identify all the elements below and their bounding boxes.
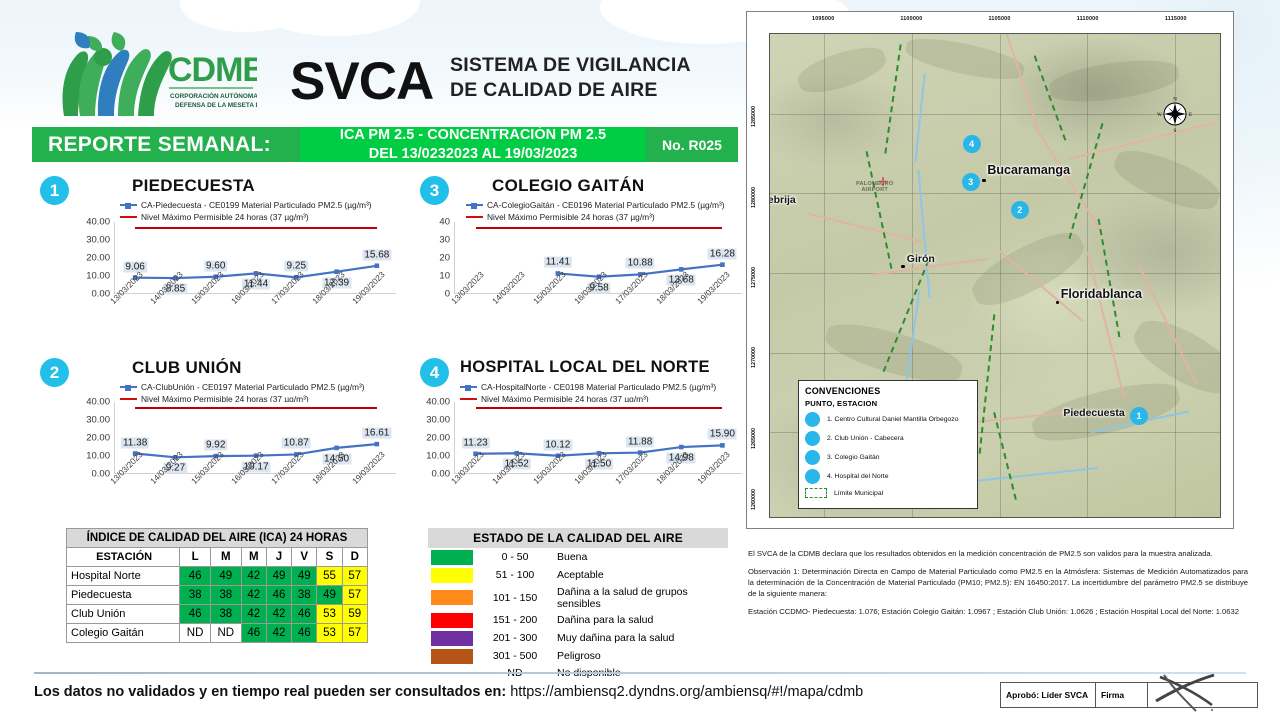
map-station-marker-4[interactable]: 4 bbox=[963, 135, 981, 153]
ica-column-header: J bbox=[266, 548, 291, 567]
map-legend-item-4: 4. Hospital del Norte bbox=[805, 469, 971, 484]
table-row: Piedecuesta38384246384957 bbox=[67, 586, 368, 605]
svg-text:N: N bbox=[1173, 98, 1177, 103]
data-label: 15.90 bbox=[708, 429, 737, 440]
station-badge-2: 2 bbox=[40, 358, 69, 387]
station-badge-1: 1 bbox=[40, 176, 69, 205]
city-label-floridablanca: Floridablanca bbox=[1061, 287, 1142, 301]
chart-y-axis-piedecuesta: 40.0030.0020.0010.000.00 bbox=[66, 222, 110, 294]
air-quality-status-table: ESTADO DE LA CALIDAD DEL AIRE0 - 50Buena… bbox=[428, 528, 728, 680]
station-dot-icon bbox=[805, 469, 820, 484]
city-label-bucaramanga: Bucaramanga bbox=[987, 163, 1070, 177]
list-item: 201 - 300Muy dañina para la salud bbox=[428, 629, 728, 647]
y-tick-label: 10.00 bbox=[86, 271, 110, 282]
y-tick-label: 10.00 bbox=[86, 451, 110, 462]
ica-value-cell: 49 bbox=[210, 567, 241, 586]
map-legend-item-label: 1. Centro Cultural Daniel Mantilla Orbeg… bbox=[827, 416, 958, 423]
legend-series-line-icon bbox=[460, 386, 477, 388]
ica-header-row: ESTACIÓNLMMJVSD bbox=[67, 548, 368, 567]
legend-series-label: CA-HospitalNorte - CE0198 Material Parti… bbox=[481, 381, 716, 393]
data-label: 9.60 bbox=[204, 260, 227, 271]
chart-y-axis-hospital-norte: 40.0030.0020.0010.000.00 bbox=[406, 402, 450, 474]
disclaimer-notes: El SVCA de la CDMB declara que los resul… bbox=[748, 548, 1248, 617]
footer-divider bbox=[34, 672, 1246, 674]
chart-x-axis-club-union: 13/03/202314/03/202315/03/202316/03/2023… bbox=[114, 477, 396, 521]
map-legend-boundary-row: Límite Municipal bbox=[805, 488, 971, 498]
ica-value-cell: 55 bbox=[317, 567, 342, 586]
legend-series-label: CA-ClubUnión - CE0197 Material Particula… bbox=[141, 381, 365, 393]
ica-value-cell: 53 bbox=[317, 624, 342, 643]
map-station-marker-1[interactable]: 1 bbox=[1130, 407, 1148, 425]
aq-range-label: 301 - 500 bbox=[476, 647, 554, 665]
chart-x-axis-piedecuesta: 13/03/202314/03/202315/03/202316/03/2023… bbox=[114, 297, 396, 341]
station-badge-3: 3 bbox=[420, 176, 449, 205]
aq-description-label: Muy dañina para la salud bbox=[554, 629, 728, 647]
aq-range-label: 51 - 100 bbox=[476, 566, 554, 584]
city-label-piedecuesta: Piedecuesta bbox=[1063, 407, 1124, 419]
ica-column-header: V bbox=[292, 548, 317, 567]
chart-y-axis-colegio-gaitan: 403020100 bbox=[406, 222, 450, 294]
compass-rose-icon: N S E W bbox=[1155, 94, 1189, 128]
ica-value-cell: 42 bbox=[241, 605, 266, 624]
map-canvas[interactable]: ✛ PALONEGRO AIRPORT Bucaramanga Floridab… bbox=[769, 33, 1221, 518]
map-y-tick: 1260000 bbox=[751, 489, 757, 510]
y-tick-label: 40.00 bbox=[86, 397, 110, 408]
chart-title-colegio-gaitan: COLEGIO GAITÁN bbox=[492, 176, 644, 196]
y-tick-label: 30.00 bbox=[86, 415, 110, 426]
banner-report-label: REPORTE SEMANAL: bbox=[32, 127, 300, 162]
y-tick-label: 10.00 bbox=[426, 451, 450, 462]
legend-series-row: CA-ColegioGaitán - CE0196 Material Parti… bbox=[466, 199, 725, 211]
y-tick-label: 20.00 bbox=[86, 433, 110, 444]
svg-text:E: E bbox=[1189, 113, 1192, 118]
legend-limit-line-icon bbox=[466, 216, 483, 218]
note-paragraph-3: Estación CCDMO- Piedecuesta: 1.076; Esta… bbox=[748, 606, 1248, 617]
data-label: 11.41 bbox=[544, 257, 572, 268]
aq-color-swatch bbox=[428, 647, 476, 665]
ica-caption-row: ÍNDICE DE CALIDAD DEL AIRE (ICA) 24 HORA… bbox=[67, 529, 368, 548]
aq-description-label: Dañina para la salud bbox=[554, 611, 728, 629]
aq-range-label: 151 - 200 bbox=[476, 611, 554, 629]
table-row: Hospital Norte46494249495557 bbox=[67, 567, 368, 586]
approval-box: Aprobó: Líder SVCA Firma bbox=[1000, 682, 1258, 708]
list-item: 101 - 150Dañina a la salud de grupos sen… bbox=[428, 584, 728, 611]
map-legend-item-2: 2. Club Unión - Cabecera bbox=[805, 431, 971, 446]
cdmb-logo: CDMB CORPORACIÓN AUTÓNOMA REGIONAL PARA … bbox=[42, 26, 257, 118]
airport-label-line1: PALONEGRO bbox=[856, 181, 893, 187]
map-y-tick: 1265000 bbox=[751, 428, 757, 449]
ica-value-cell: 42 bbox=[241, 586, 266, 605]
chart-legend-colegio-gaitan: CA-ColegioGaitán - CE0196 Material Parti… bbox=[466, 199, 725, 223]
aq-color-swatch bbox=[428, 611, 476, 629]
y-tick-label: 20 bbox=[439, 253, 450, 264]
ica-column-header: ESTACIÓN bbox=[67, 548, 180, 567]
station-map[interactable]: 10950001100000110500011100001115000 1285… bbox=[746, 11, 1234, 529]
ica-value-cell: 38 bbox=[210, 605, 241, 624]
ica-column-header: M bbox=[241, 548, 266, 567]
aq-description-label: Buena bbox=[554, 548, 728, 566]
map-y-tick: 1280000 bbox=[751, 187, 757, 208]
banner-title-line1: ICA PM 2.5 - CONCENTRACIÓN PM 2.5 bbox=[340, 126, 606, 144]
table-row: Colegio GaitánNDND4642465357 bbox=[67, 624, 368, 643]
map-x-tick: 1095000 bbox=[812, 16, 834, 22]
footer-url[interactable]: https://ambiensq2.dyndns.org/ambiensq/#!… bbox=[510, 684, 863, 700]
city-label-giron: Girón bbox=[907, 253, 935, 265]
ica-station-name: Piedecuesta bbox=[67, 586, 180, 605]
aq-range-label: 101 - 150 bbox=[476, 584, 554, 611]
map-legend-item-label: 3. Colegio Gaitán bbox=[827, 454, 880, 461]
signature-mark-icon bbox=[1152, 671, 1222, 713]
legend-limit-line-icon bbox=[120, 398, 137, 400]
aq-range-label: 0 - 50 bbox=[476, 548, 554, 566]
ica-value-cell: 53 bbox=[317, 605, 342, 624]
svg-text:S: S bbox=[1173, 129, 1176, 134]
map-legend-item-label: 2. Club Unión - Cabecera bbox=[827, 435, 904, 442]
ica-value-cell: 49 bbox=[292, 567, 317, 586]
ica-value-cell: 59 bbox=[342, 605, 367, 624]
ica-value-cell: 38 bbox=[292, 586, 317, 605]
map-gridline bbox=[770, 114, 1220, 115]
legend-series-row: CA-HospitalNorte - CE0198 Material Parti… bbox=[460, 381, 716, 393]
chart-title-piedecuesta: PIEDECUESTA bbox=[132, 176, 255, 196]
aq-table-caption: ESTADO DE LA CALIDAD DEL AIRE bbox=[428, 528, 728, 548]
ica-table: ÍNDICE DE CALIDAD DEL AIRE (ICA) 24 HORA… bbox=[66, 528, 368, 643]
logo-subtitle-line1: CORPORACIÓN AUTÓNOMA REGIONAL PARA LA bbox=[170, 91, 257, 100]
data-label: 10.87 bbox=[282, 438, 311, 449]
ica-value-cell: 46 bbox=[266, 586, 291, 605]
data-label: 9.92 bbox=[204, 440, 227, 451]
data-label: 15.68 bbox=[362, 249, 391, 260]
map-x-tick: 1115000 bbox=[1165, 16, 1187, 22]
station-dot-icon bbox=[805, 412, 820, 427]
data-label: 11.23 bbox=[461, 437, 489, 448]
y-tick-label: 20.00 bbox=[426, 433, 450, 444]
ica-value-cell: 46 bbox=[180, 605, 211, 624]
chart-legend-piedecuesta: CA-Piedecuesta - CE0199 Material Particu… bbox=[120, 199, 372, 223]
map-station-marker-3[interactable]: 3 bbox=[962, 173, 980, 191]
legend-series-row: CA-Piedecuesta - CE0199 Material Particu… bbox=[120, 199, 372, 211]
map-y-tick: 1270000 bbox=[751, 347, 757, 368]
svg-text:W: W bbox=[1157, 113, 1162, 118]
chart-title-club-union: CLUB UNIÓN bbox=[132, 358, 242, 378]
chart-x-axis-hospital-norte: 13/03/202314/03/202315/03/202316/03/2023… bbox=[454, 477, 742, 521]
aq-color-swatch bbox=[428, 584, 476, 611]
aq-description-label: Dañina a la salud de grupos sensibles bbox=[554, 584, 728, 611]
boundary-swatch-icon bbox=[805, 488, 827, 498]
footer-text: Los datos no validados y en tiempo real … bbox=[34, 684, 863, 700]
ica-column-header: S bbox=[317, 548, 342, 567]
legend-series-label: CA-ColegioGaitán - CE0196 Material Parti… bbox=[487, 199, 725, 211]
ica-value-cell: ND bbox=[210, 624, 241, 643]
data-label: 16.28 bbox=[708, 248, 737, 259]
legend-series-line-icon bbox=[120, 386, 137, 388]
map-legend-subtitle: PUNTO, ESTACION bbox=[805, 399, 971, 408]
airport-label: PALONEGRO AIRPORT bbox=[840, 181, 910, 193]
ica-value-cell: 38 bbox=[210, 586, 241, 605]
map-legend-boundary-label: Límite Municipal bbox=[834, 490, 883, 497]
ica-column-header: M bbox=[210, 548, 241, 567]
report-banner: REPORTE SEMANAL: ICA PM 2.5 - CONCENTRAC… bbox=[32, 127, 738, 162]
list-item: 301 - 500Peligroso bbox=[428, 647, 728, 665]
svg-text:CDMB: CDMB bbox=[168, 51, 257, 89]
svca-acronym: SVCA bbox=[290, 55, 433, 108]
station-badge-4: 4 bbox=[420, 358, 449, 387]
svca-subtitle-line1: SISTEMA DE VIGILANCIA bbox=[450, 53, 691, 78]
note-paragraph-2: Observación 1: Determinación Directa en … bbox=[748, 566, 1248, 599]
chart-panel-club-union: 2CLUB UNIÓN CA-ClubUnión - CE0197 Materi… bbox=[32, 352, 392, 522]
station-dot-icon bbox=[805, 431, 820, 446]
chart-panel-piedecuesta: 1PIEDECUESTA CA-Piedecuesta - CE0199 Mat… bbox=[32, 170, 392, 345]
map-gridline bbox=[770, 273, 1220, 274]
note-paragraph-1: El SVCA de la CDMB declara que los resul… bbox=[748, 548, 1248, 559]
ica-value-cell: 38 bbox=[180, 586, 211, 605]
map-legend-item-label: 4. Hospital del Norte bbox=[827, 473, 889, 480]
chart-title-hospital-norte: HOSPITAL LOCAL DEL NORTE bbox=[460, 358, 710, 377]
y-tick-label: 30.00 bbox=[86, 235, 110, 246]
chart-panel-hospital-norte: 4HOSPITAL LOCAL DEL NORTE CA-HospitalNor… bbox=[412, 352, 742, 522]
y-tick-label: 30.00 bbox=[426, 415, 450, 426]
aq-color-swatch bbox=[428, 566, 476, 584]
map-y-tick: 1275000 bbox=[751, 267, 757, 288]
map-gridline bbox=[1087, 34, 1088, 517]
map-legend-item-3: 3. Colegio Gaitán bbox=[805, 450, 971, 465]
data-label: 11.88 bbox=[626, 436, 654, 447]
legend-series-row: CA-ClubUnión - CE0197 Material Particula… bbox=[120, 381, 365, 393]
y-tick-label: 40 bbox=[439, 217, 450, 228]
approval-label: Aprobó: Líder SVCA bbox=[1001, 683, 1096, 707]
map-legend-title: CONVENCIONES bbox=[805, 386, 971, 396]
chart-panel-colegio-gaitan: 3COLEGIO GAITÁN CA-ColegioGaitán - CE019… bbox=[412, 170, 742, 345]
map-legend-item-1: 1. Centro Cultural Daniel Mantilla Orbeg… bbox=[805, 412, 971, 427]
ica-station-name: Hospital Norte bbox=[67, 567, 180, 586]
legend-limit-line-icon bbox=[120, 216, 137, 218]
ica-value-cell: 49 bbox=[266, 567, 291, 586]
data-label: 10.12 bbox=[543, 439, 572, 450]
ica-value-cell: ND bbox=[180, 624, 211, 643]
map-legend-box: CONVENCIONES PUNTO, ESTACION 1. Centro C… bbox=[798, 380, 978, 509]
ica-value-cell: 46 bbox=[292, 624, 317, 643]
map-x-tick: 1105000 bbox=[988, 16, 1010, 22]
ica-value-cell: 46 bbox=[292, 605, 317, 624]
svca-subtitle: SISTEMA DE VIGILANCIA DE CALIDAD DE AIRE bbox=[450, 53, 691, 103]
signature-area bbox=[1148, 683, 1257, 707]
legend-series-label: CA-Piedecuesta - CE0199 Material Particu… bbox=[141, 199, 372, 211]
banner-report-number: No. R025 bbox=[646, 127, 738, 162]
svca-subtitle-line2: DE CALIDAD DE AIRE bbox=[450, 78, 691, 103]
ica-value-cell: 57 bbox=[342, 624, 367, 643]
table-row: Club Unión46384242465359 bbox=[67, 605, 368, 624]
ica-value-cell: 42 bbox=[266, 605, 291, 624]
banner-title-line2: DEL 13/0232023 AL 19/03/2023 bbox=[369, 145, 578, 163]
legend-limit-line-icon bbox=[460, 398, 477, 400]
chart-x-axis-colegio-gaitan: 13/03/202314/03/202315/03/202316/03/2023… bbox=[454, 297, 742, 341]
aq-color-swatch bbox=[428, 548, 476, 566]
data-label: 16.61 bbox=[362, 428, 391, 439]
list-item: 51 - 100Aceptable bbox=[428, 566, 728, 584]
ica-station-name: Colegio Gaitán bbox=[67, 624, 180, 643]
chart-y-axis-club-union: 40.0030.0020.0010.000.00 bbox=[66, 402, 110, 474]
y-tick-label: 40.00 bbox=[86, 217, 110, 228]
footer-bold-text: Los datos no validados y en tiempo real … bbox=[34, 684, 506, 700]
ica-column-header: L bbox=[180, 548, 211, 567]
ica-table-caption: ÍNDICE DE CALIDAD DEL AIRE (ICA) 24 HORA… bbox=[67, 529, 368, 548]
station-dot-icon bbox=[805, 450, 820, 465]
logo-subtitle-line2: DEFENSA DE LA MESETA DE BUCARAMANGA bbox=[175, 102, 257, 109]
map-x-tick: 1100000 bbox=[900, 16, 922, 22]
aq-range-label: 201 - 300 bbox=[476, 629, 554, 647]
aq-caption-row: ESTADO DE LA CALIDAD DEL AIRE bbox=[428, 528, 728, 548]
map-x-tick: 1110000 bbox=[1077, 16, 1099, 22]
legend-series-line-icon bbox=[466, 204, 483, 206]
city-label-lebrija: ebrija bbox=[769, 194, 796, 206]
page-header: CDMB CORPORACIÓN AUTÓNOMA REGIONAL PARA … bbox=[0, 0, 740, 120]
ica-value-cell: 46 bbox=[180, 567, 211, 586]
aq-description-label: Aceptable bbox=[554, 566, 728, 584]
y-tick-label: 40.00 bbox=[426, 397, 450, 408]
y-tick-label: 0.00 bbox=[432, 469, 451, 480]
ica-value-cell: 42 bbox=[241, 567, 266, 586]
ica-value-cell: 42 bbox=[266, 624, 291, 643]
list-item: 0 - 50Buena bbox=[428, 548, 728, 566]
aq-color-swatch bbox=[428, 629, 476, 647]
aq-description-label: Peligroso bbox=[554, 647, 728, 665]
map-y-tick: 1285000 bbox=[751, 106, 757, 127]
banner-title-block: ICA PM 2.5 - CONCENTRACIÓN PM 2.5 DEL 13… bbox=[300, 127, 646, 162]
ica-station-name: Club Unión bbox=[67, 605, 180, 624]
ica-value-cell: 57 bbox=[342, 586, 367, 605]
y-tick-label: 20.00 bbox=[86, 253, 110, 264]
y-tick-label: 30 bbox=[439, 235, 450, 246]
data-label: 11.38 bbox=[121, 437, 149, 448]
signature-label: Firma bbox=[1096, 683, 1148, 707]
ica-value-cell: 46 bbox=[241, 624, 266, 643]
map-station-marker-2[interactable]: 2 bbox=[1011, 201, 1029, 219]
map-gridline bbox=[770, 193, 1220, 194]
ica-column-header: D bbox=[342, 548, 367, 567]
data-label: 10.88 bbox=[626, 258, 655, 269]
y-tick-label: 10 bbox=[439, 271, 450, 282]
legend-series-line-icon bbox=[120, 204, 137, 206]
airport-label-line2: AIRPORT bbox=[861, 187, 888, 193]
ica-value-cell: 49 bbox=[317, 586, 342, 605]
ica-value-cell: 57 bbox=[342, 567, 367, 586]
map-gridline bbox=[770, 353, 1220, 354]
list-item: 151 - 200Dañina para la salud bbox=[428, 611, 728, 629]
